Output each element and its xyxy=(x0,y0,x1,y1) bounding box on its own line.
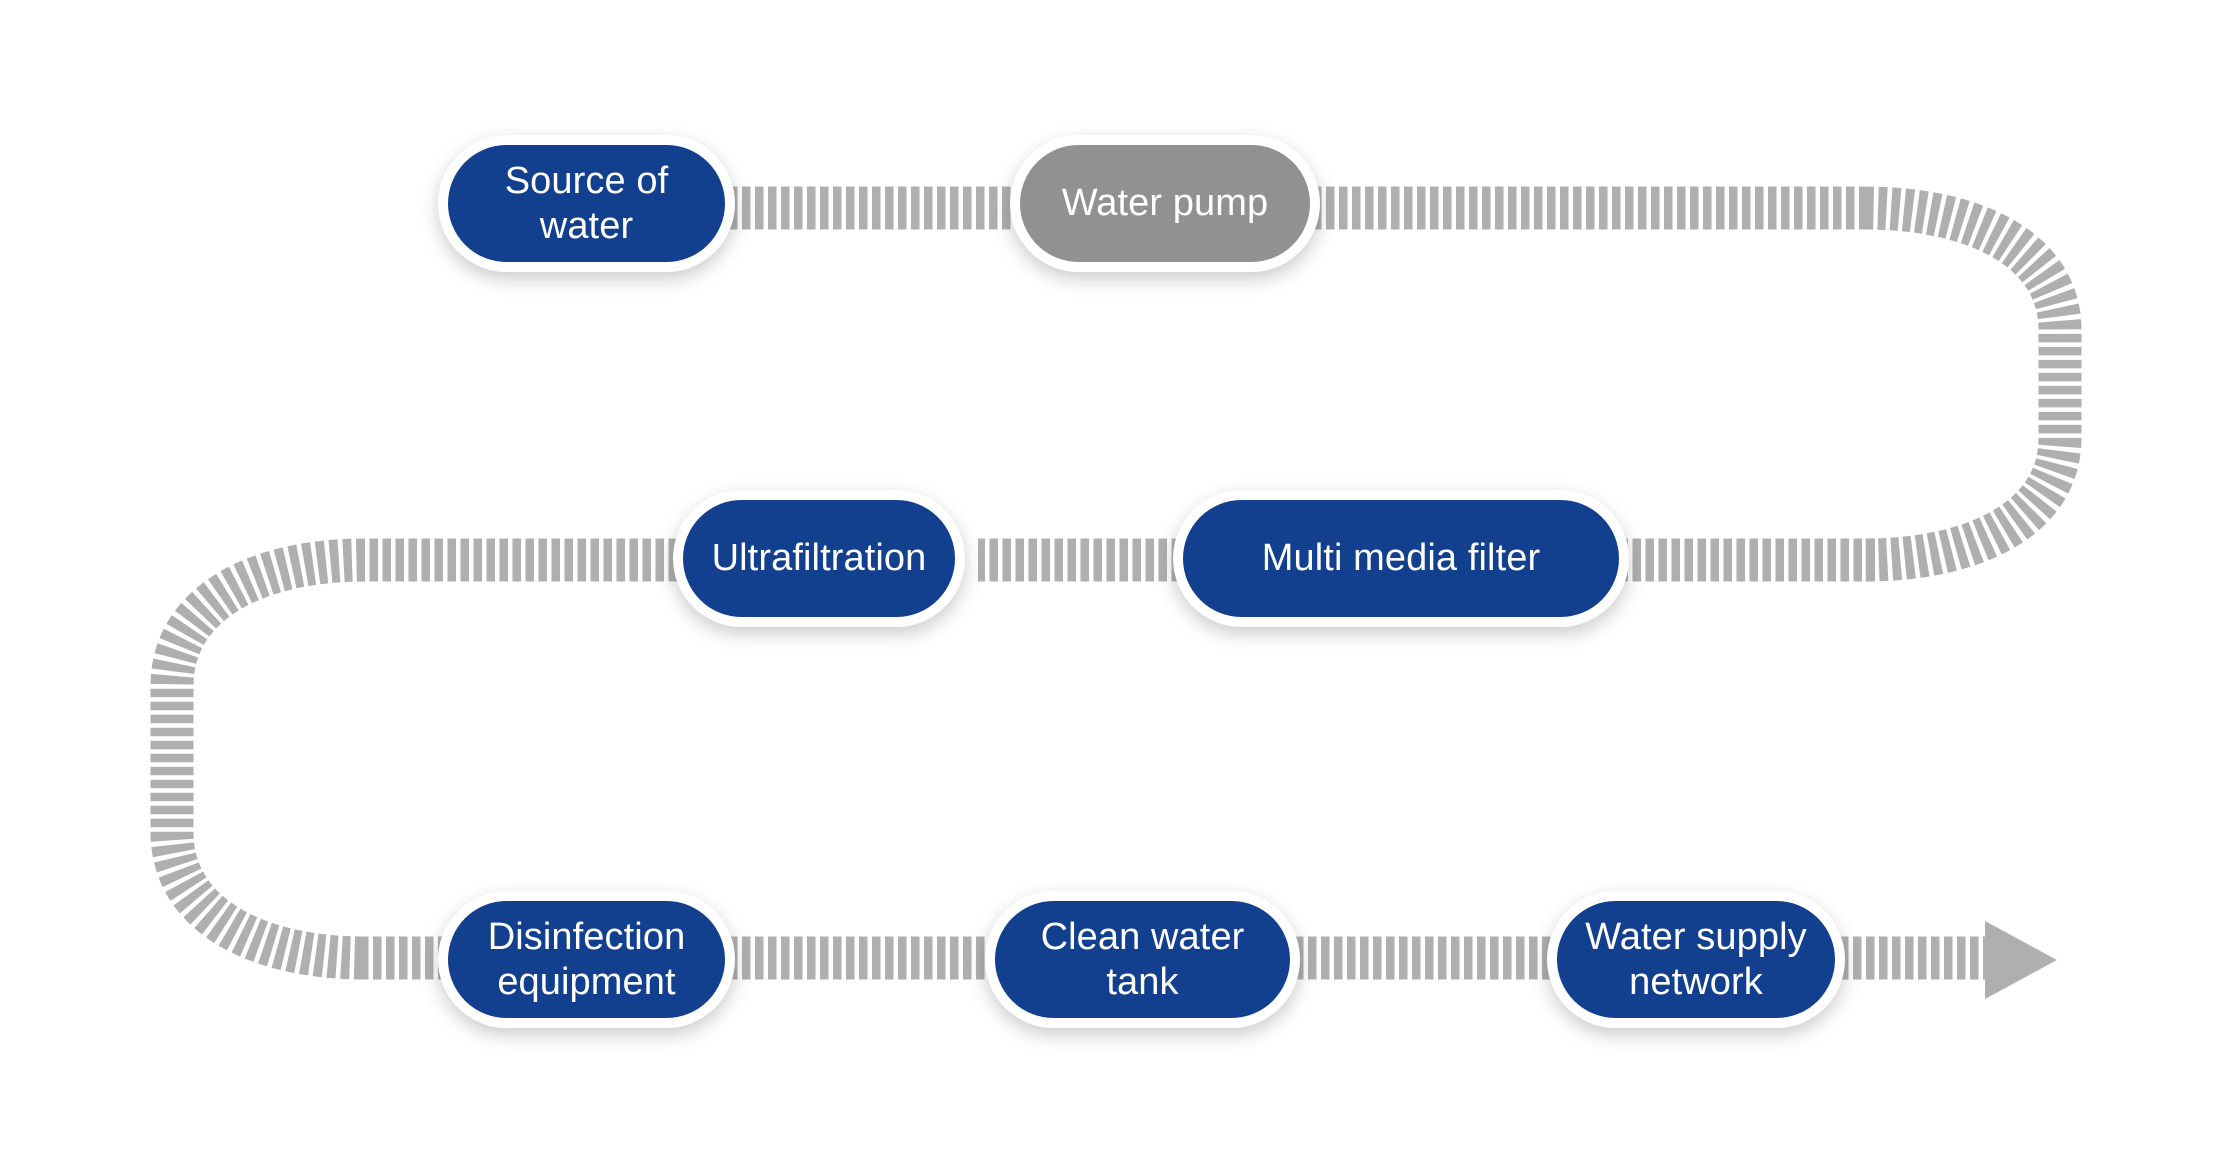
node-label: Ultrafiltration xyxy=(698,536,941,581)
node-ultrafiltration[interactable]: Ultrafiltration xyxy=(673,490,965,627)
connector-right-uturn xyxy=(1865,208,2060,560)
node-clean-water-tank[interactable]: Clean water tank xyxy=(985,891,1300,1028)
diagram-canvas: Source of water Water pump Multi media f… xyxy=(0,0,2222,1164)
node-label: Disinfection equipment xyxy=(474,915,700,1005)
flow-arrowhead xyxy=(1985,921,2057,999)
connector-left-uturn xyxy=(172,560,365,958)
node-label: Water pump xyxy=(1048,181,1283,226)
node-water-pump[interactable]: Water pump xyxy=(1010,135,1320,272)
node-label: Source of water xyxy=(448,159,725,249)
node-water-supply-network[interactable]: Water supply network xyxy=(1547,891,1845,1028)
node-source-of-water[interactable]: Source of water xyxy=(438,135,735,272)
node-label: Clean water tank xyxy=(995,915,1290,1005)
node-multi-media-filter[interactable]: Multi media filter xyxy=(1173,490,1629,627)
node-label: Water supply network xyxy=(1571,915,1821,1005)
node-label: Multi media filter xyxy=(1248,536,1554,581)
node-disinfection-equipment[interactable]: Disinfection equipment xyxy=(438,891,735,1028)
